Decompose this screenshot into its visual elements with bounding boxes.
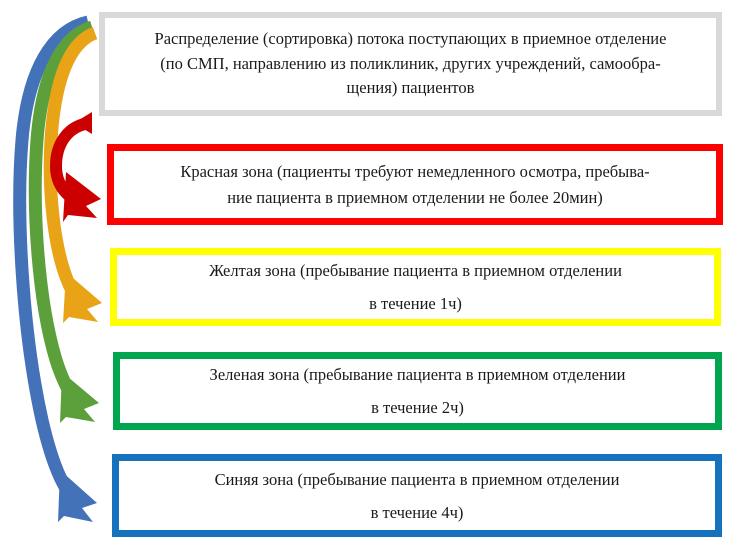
- zone-box-green: Зеленая зона (пребывание пациента в прие…: [113, 352, 722, 430]
- arrow-to-green-zone: [35, 27, 99, 423]
- zone-box-yellow: Желтая зона (пребывание пациента в прием…: [110, 248, 721, 326]
- zone-box-yellow-label: Желтая зона (пребывание пациента в прием…: [117, 254, 714, 320]
- zone-box-red: Красная зона (пациенты требуют немедленн…: [107, 144, 723, 225]
- zone-box-red-label: Красная зона (пациенты требуют немедленн…: [114, 159, 716, 209]
- arrow-to-blue-zone: [20, 22, 97, 522]
- arrow-to-red-zone: [56, 112, 101, 222]
- header-box-label: Распределение (сортировка) потока поступ…: [105, 27, 716, 101]
- triage-flow-diagram: Распределение (сортировка) потока поступ…: [0, 0, 734, 553]
- zone-box-green-label: Зеленая зона (пребывание пациента в прие…: [120, 358, 715, 424]
- zone-box-blue-label: Синяя зона (пребывание пациента в приемн…: [119, 463, 715, 529]
- arrow-to-yellow-zone: [50, 33, 102, 323]
- zone-box-blue: Синяя зона (пребывание пациента в приемн…: [112, 454, 722, 537]
- header-box-patient-flow-distribution: Распределение (сортировка) потока поступ…: [99, 12, 722, 116]
